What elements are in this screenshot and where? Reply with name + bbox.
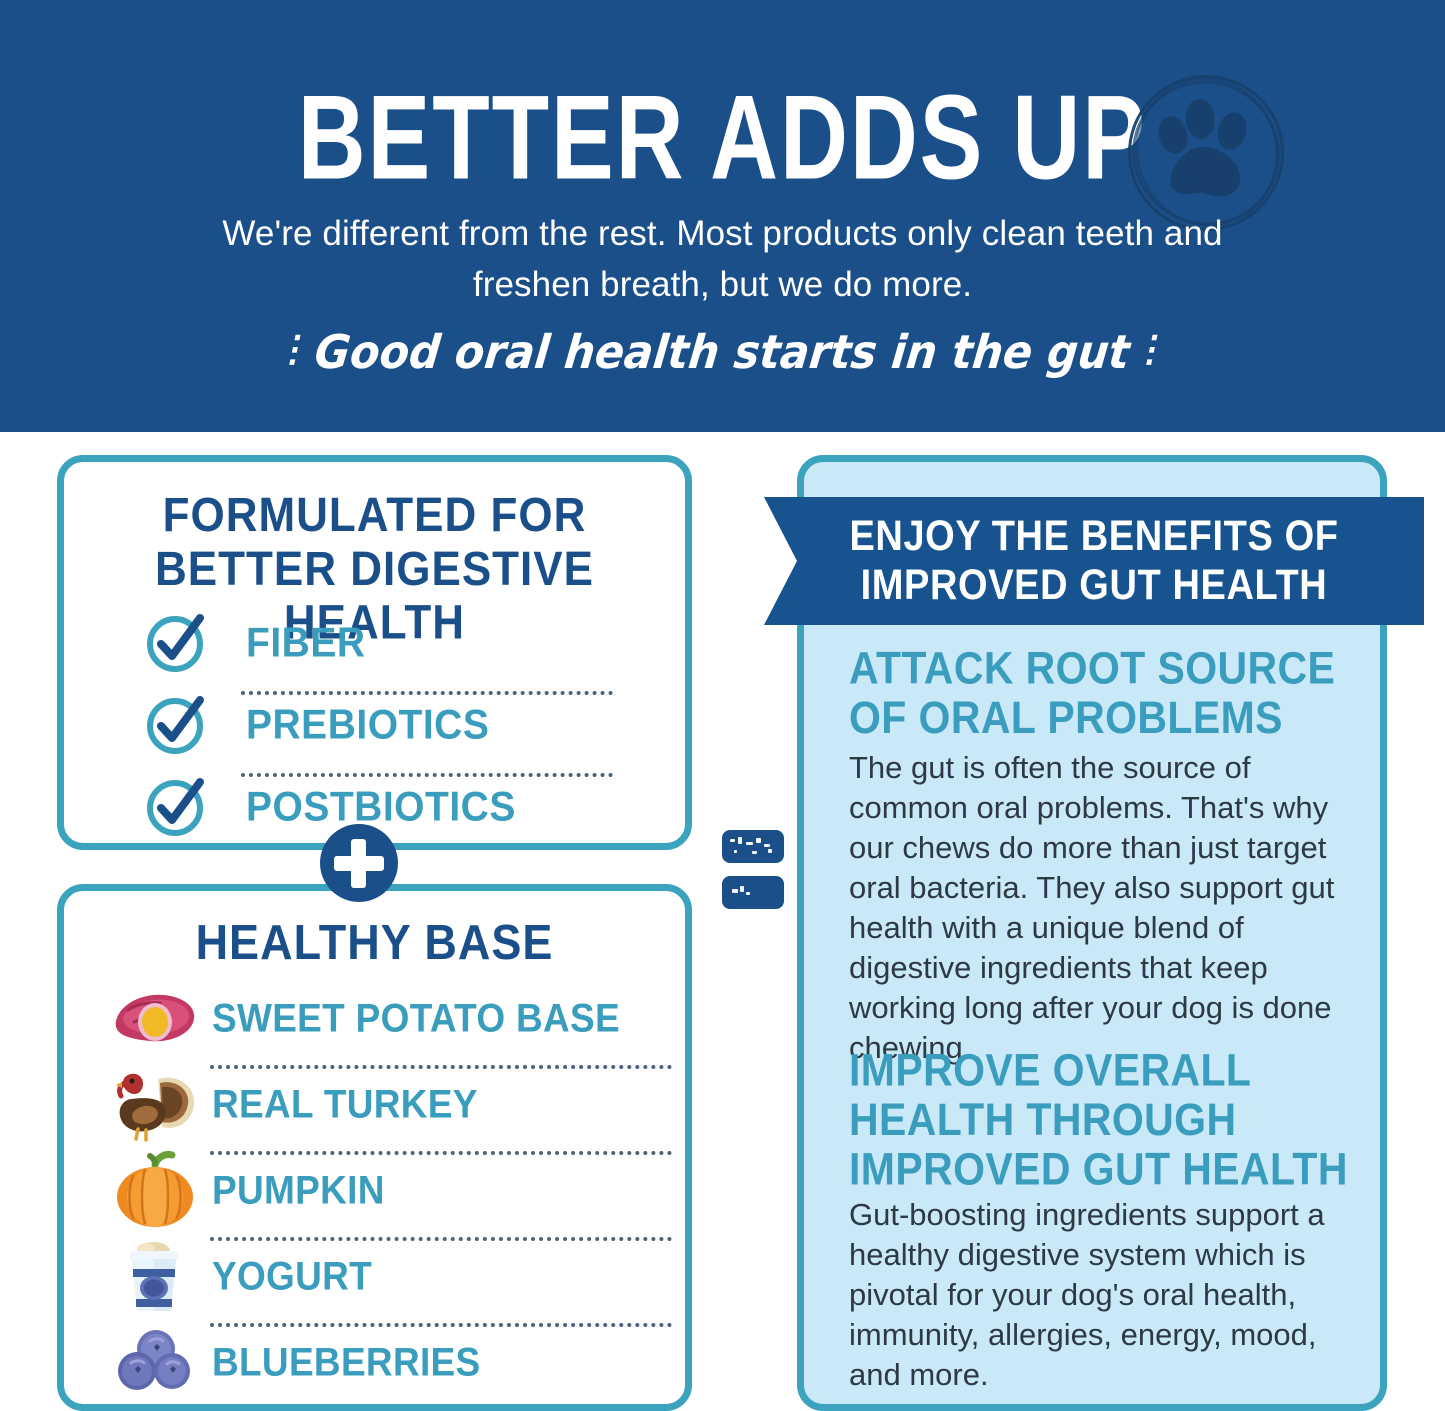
benefit-body: The gut is often the source of common or…	[849, 748, 1361, 1068]
list-item-label: PUMPKIN	[212, 1169, 385, 1212]
benefit-block-improve-overall-health: IMPROVE OVERALL HEALTH THROUGH IMPROVED …	[849, 1046, 1361, 1395]
list-item-label: SWEET POTATO BASE	[212, 997, 620, 1040]
pumpkin-icon	[110, 1149, 200, 1229]
plus-icon	[320, 824, 398, 902]
list-item: YOGURT	[82, 1235, 682, 1321]
list-item-label: POSTBIOTICS	[246, 785, 516, 830]
yogurt-cup-icon	[110, 1235, 200, 1315]
page-title: BETTER ADDS UP	[298, 76, 1147, 198]
healthy-base-list: SWEET POTATO BASE REAL TURKEY	[82, 977, 682, 1407]
paw-glyph	[1150, 95, 1262, 211]
script-mark-right-icon: ⋮	[1130, 328, 1173, 370]
equals-icon	[722, 830, 784, 922]
header-script-row: ⋮ Good oral health starts in the gut ⋮	[0, 325, 1445, 381]
formulated-card: FORMULATED FOR BETTER DIGESTIVE HEALTH F…	[57, 455, 692, 850]
benefits-panel: ENJOY THE BENEFITS OF IMPROVED GUT HEALT…	[797, 455, 1387, 1411]
check-circle-icon	[144, 693, 206, 755]
blueberries-icon	[110, 1321, 200, 1401]
list-item: REAL TURKEY	[82, 1063, 682, 1149]
list-item-label: FIBER	[246, 621, 366, 666]
benefit-heading: ATTACK ROOT SOURCE OF ORAL PROBLEMS	[849, 644, 1361, 743]
benefit-heading: IMPROVE OVERALL HEALTH THROUGH IMPROVED …	[849, 1046, 1361, 1195]
header-subtitle: We're different from the rest. Most prod…	[160, 208, 1285, 310]
benefit-body: Gut-boosting ingredients support a healt…	[849, 1195, 1361, 1395]
benefits-banner-line1: ENJOY THE BENEFITS OF	[849, 512, 1338, 561]
list-item: PUMPKIN	[82, 1149, 682, 1235]
healthy-base-card: HEALTHY BASE SWEET POTATO BASE	[57, 884, 692, 1411]
healthy-base-card-title: HEALTHY BASE	[64, 915, 685, 969]
list-item-label: REAL TURKEY	[212, 1083, 478, 1126]
benefits-banner: ENJOY THE BENEFITS OF IMPROVED GUT HEALT…	[764, 497, 1424, 625]
list-item: PREBIOTICS	[96, 689, 656, 771]
list-item-label: BLUEBERRIES	[212, 1341, 481, 1384]
header-banner: BETTER ADDS UP We're different from the …	[0, 0, 1445, 432]
content-area: FORMULATED FOR BETTER DIGESTIVE HEALTH F…	[0, 432, 1445, 1410]
list-item: BLUEBERRIES	[82, 1321, 682, 1407]
turkey-icon	[110, 1063, 200, 1143]
check-circle-icon	[144, 611, 206, 673]
equals-bar-top	[722, 830, 784, 863]
benefit-block-attack-root-source: ATTACK ROOT SOURCE OF ORAL PROBLEMS The …	[849, 644, 1361, 1068]
benefits-banner-line2: IMPROVED GUT HEALTH	[849, 561, 1338, 610]
equals-bar-bottom	[722, 876, 784, 909]
list-item: FIBER	[96, 607, 656, 689]
header-script-line: Good oral health starts in the gut	[312, 323, 1133, 383]
list-item-label: PREBIOTICS	[246, 703, 489, 748]
plus-vertical-bar	[351, 839, 366, 888]
list-item-label: YOGURT	[212, 1255, 372, 1298]
benefits-banner-text: ENJOY THE BENEFITS OF IMPROVED GUT HEALT…	[803, 512, 1384, 611]
list-item: SWEET POTATO BASE	[82, 977, 682, 1063]
sweet-potato-icon	[110, 977, 200, 1057]
check-circle-icon	[144, 775, 206, 837]
formulated-list: FIBER PREBIOTICS POSTBIOTICS	[96, 607, 656, 853]
script-mark-left-icon: ⋮	[272, 328, 315, 370]
